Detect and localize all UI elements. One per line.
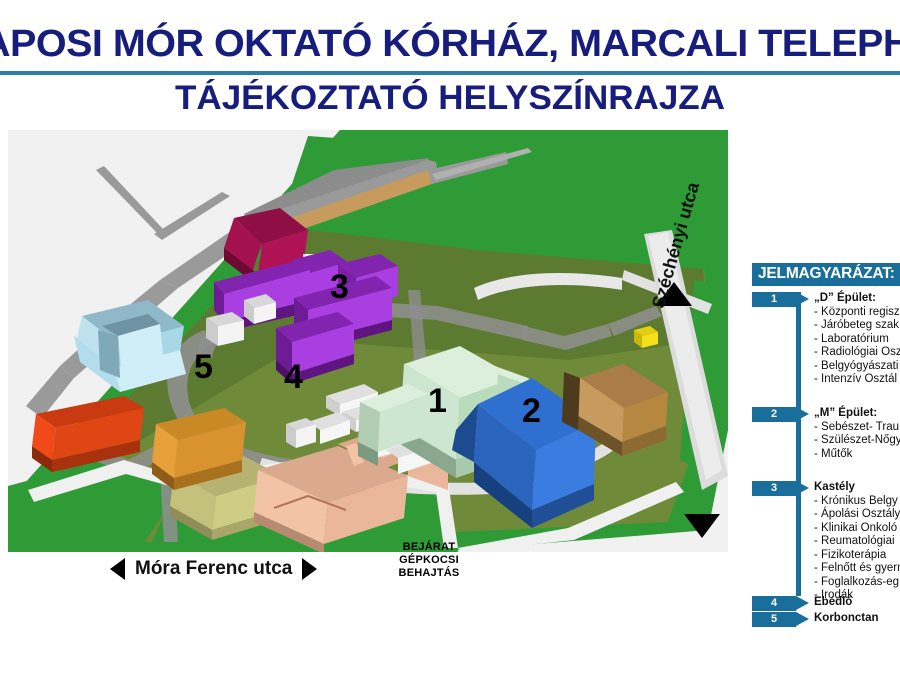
- legend-panel: JELMAGYARÁZAT: 1 „D” Épület: - Központi …: [752, 263, 900, 612]
- legend-badge-1: 1: [752, 292, 796, 307]
- legend-item: - Sebészet- Trau: [814, 421, 900, 435]
- legend-entry-2[interactable]: 2 „M” Épület: - Sebészet- Trau - Szülész…: [752, 407, 900, 461]
- legend-text-1: „D” Épület: - Központi regisz - Járóbete…: [814, 292, 900, 387]
- legend-text-3: Kastély - Krónikus Belgy - Ápolási Osztá…: [814, 481, 900, 603]
- site-plan-page: APOSI MÓR OKTATÓ KÓRHÁZ, MARCALI TELEPHE…: [0, 0, 900, 675]
- street-label-mora-ferenc: Móra Ferenc utca: [110, 558, 317, 580]
- entrance-caption: BEJÁRAT GÉPKOCSI BEHAJTÁS: [379, 541, 479, 580]
- legend-item: - Belgyógyászati: [814, 360, 900, 374]
- title-divider: [0, 71, 900, 75]
- legend-entries: 1 „D” Épület: - Központi regisz - Járóbe…: [752, 292, 900, 612]
- legend-item: - Járóbeteg szak: [814, 319, 900, 333]
- legend-item: - Műtők: [814, 448, 900, 462]
- street-name-bottom: Móra Ferenc utca: [135, 558, 292, 580]
- site-map[interactable]: [8, 130, 728, 552]
- legend-heading-3: Kastély: [814, 481, 900, 495]
- legend-title: JELMAGYARÁZAT:: [752, 263, 900, 286]
- map-building-number-2: 2: [522, 392, 541, 431]
- legend-item: - Foglalkozás-eg: [814, 576, 900, 590]
- legend-item: - Felnőtt és gyerm: [814, 562, 900, 576]
- entrance-line-2: GÉPKOCSI: [379, 554, 479, 567]
- legend-text-2: „M” Épület: - Sebészet- Trau - Szülészet…: [814, 407, 900, 461]
- legend-item: - Klinikai Onkoló: [814, 522, 900, 536]
- title-line-1: APOSI MÓR OKTATÓ KÓRHÁZ, MARCALI TELEPHE: [0, 22, 900, 66]
- legend-text-4: Ebédlő: [814, 596, 852, 610]
- page-title: APOSI MÓR OKTATÓ KÓRHÁZ, MARCALI TELEPHE…: [0, 22, 900, 66]
- legend-item: - Krónikus Belgy: [814, 495, 900, 509]
- legend-item: - Radiológiai Osz: [814, 346, 900, 360]
- map-building-number-5: 5: [194, 348, 213, 387]
- map-building-number-4: 4: [284, 358, 303, 397]
- arrow-left-icon: [110, 558, 125, 580]
- legend-item: - Központi regisz: [814, 306, 900, 320]
- legend-heading-2: „M” Épület:: [814, 407, 900, 421]
- arrow-right-icon: [302, 558, 317, 580]
- legend-badge-5: 5: [752, 612, 796, 627]
- legend-item: - Laboratórium: [814, 333, 900, 347]
- legend-badge-3: 3: [752, 481, 796, 496]
- legend-entry-1[interactable]: 1 „D” Épület: - Központi regisz - Járóbe…: [752, 292, 900, 387]
- entrance-line-1: BEJÁRAT: [379, 541, 479, 554]
- legend-entry-4[interactable]: 4 Ebédlő: [752, 596, 852, 611]
- legend-badge-2: 2: [752, 407, 796, 422]
- legend-text-5: Korbonctan: [814, 612, 879, 626]
- legend-entry-5[interactable]: 5 Korbonctan: [752, 612, 879, 627]
- title-line-2: TÁJÉKOZTATÓ HELYSZÍNRAJZA: [0, 78, 900, 118]
- legend-item: - Ápolási Osztály: [814, 508, 900, 522]
- legend-heading-4: Ebédlő: [814, 596, 852, 610]
- site-map-illustration: [8, 130, 728, 552]
- map-building-number-3: 3: [330, 268, 349, 307]
- legend-item: - Szülészet-Nőgy: [814, 434, 900, 448]
- legend-entry-3[interactable]: 3 Kastély - Krónikus Belgy - Ápolási Osz…: [752, 481, 900, 603]
- legend-heading-1: „D” Épület:: [814, 292, 900, 306]
- legend-badge-4: 4: [752, 596, 796, 611]
- legend-item: - Fizikoterápia: [814, 549, 900, 563]
- map-building-number-1: 1: [428, 382, 447, 421]
- entrance-line-3: BEHAJTÁS: [379, 567, 479, 580]
- legend-heading-5: Korbonctan: [814, 612, 879, 626]
- legend-item: - Reumatológiai: [814, 535, 900, 549]
- legend-item: - Intenzív Osztál: [814, 373, 900, 387]
